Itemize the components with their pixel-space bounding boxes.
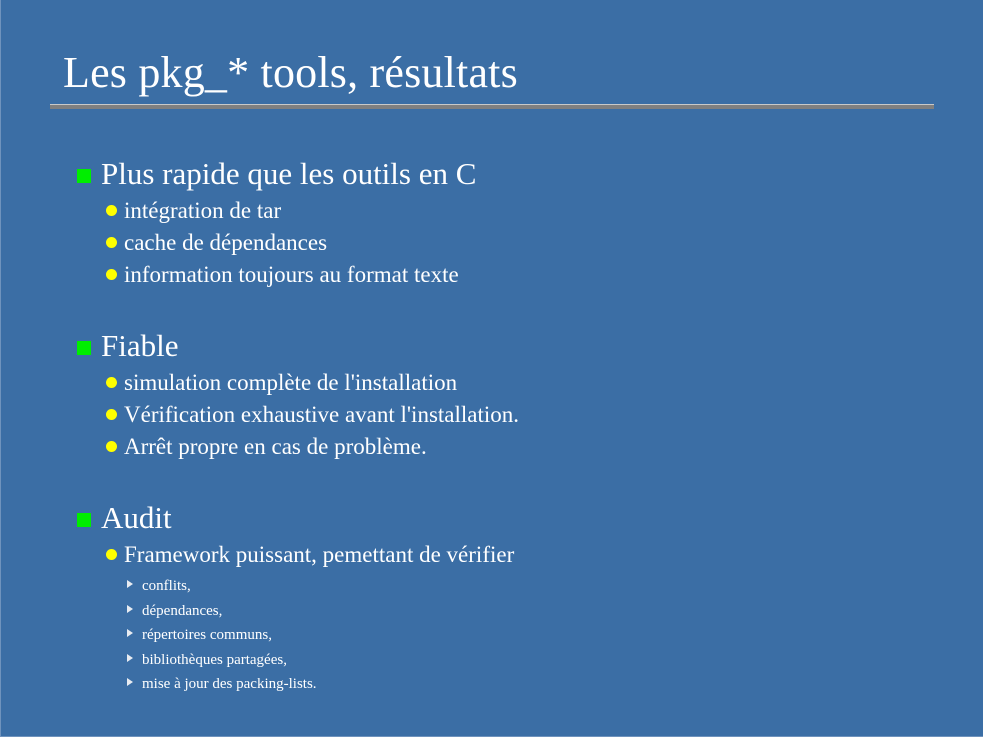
outline-level3-label: conflits, bbox=[142, 574, 191, 599]
square-bullet-icon bbox=[77, 340, 101, 356]
triangle-bullet-icon bbox=[127, 576, 142, 592]
outline-level3-label: répertoires communs, bbox=[142, 623, 272, 648]
outline-level2-item: cache de dépendances bbox=[1, 227, 983, 259]
outline-level2-list: Framework puissant, pemettant de vérifie… bbox=[1, 539, 983, 571]
dot-bullet-icon bbox=[106, 267, 124, 283]
outline-level2-item: Vérification exhaustive avant l'installa… bbox=[1, 399, 983, 431]
outline-level3-item: répertoires communs, bbox=[1, 623, 983, 648]
triangle-bullet-icon bbox=[127, 601, 142, 617]
outline-level3-label: dépendances, bbox=[142, 599, 222, 624]
outline-level3-list: conflits, dépendances, répertoires commu… bbox=[1, 574, 983, 697]
outline-group: Fiable simulation complète de l'installa… bbox=[1, 327, 983, 463]
outline-level2-label: Vérification exhaustive avant l'installa… bbox=[124, 399, 519, 431]
dot-bullet-icon bbox=[106, 235, 124, 251]
dot-bullet-icon bbox=[106, 203, 124, 219]
outline-level1-item: Fiable bbox=[1, 327, 983, 365]
title-block: Les pkg_* tools, résultats bbox=[1, 46, 983, 100]
dot-bullet-icon bbox=[106, 407, 124, 423]
square-bullet-icon bbox=[77, 168, 101, 184]
outline-level1-label: Fiable bbox=[101, 327, 179, 365]
outline-level3-item: conflits, bbox=[1, 574, 983, 599]
outline-level2-item: Framework puissant, pemettant de vérifie… bbox=[1, 539, 983, 571]
outline-level3-label: mise à jour des packing-lists. bbox=[142, 672, 317, 697]
page-title: Les pkg_* tools, résultats bbox=[1, 46, 983, 100]
dot-bullet-icon bbox=[106, 375, 124, 391]
outline-level2-item: information toujours au format texte bbox=[1, 259, 983, 291]
outline-level1-item: Audit bbox=[1, 499, 983, 537]
outline-level2-item: intégration de tar bbox=[1, 195, 983, 227]
outline-level2-list: intégration de tar cache de dépendances … bbox=[1, 195, 983, 291]
slide-canvas: Les pkg_* tools, résultats Plus rapide q… bbox=[0, 0, 983, 737]
outline-level1-item: Plus rapide que les outils en C bbox=[1, 155, 983, 193]
outline-level3-item: dépendances, bbox=[1, 599, 983, 624]
slide-content-outline: Plus rapide que les outils en C intégrat… bbox=[1, 155, 983, 697]
outline-level2-label: simulation complète de l'installation bbox=[124, 367, 457, 399]
triangle-bullet-icon bbox=[127, 650, 142, 666]
outline-level2-label: intégration de tar bbox=[124, 195, 281, 227]
title-divider bbox=[50, 104, 934, 109]
dot-bullet-icon bbox=[106, 439, 124, 455]
outline-level2-item: Arrêt propre en cas de problème. bbox=[1, 431, 983, 463]
outline-level1-label: Audit bbox=[101, 499, 172, 537]
triangle-bullet-icon bbox=[127, 674, 142, 690]
outline-group: Plus rapide que les outils en C intégrat… bbox=[1, 155, 983, 291]
outline-level2-list: simulation complète de l'installation Vé… bbox=[1, 367, 983, 463]
outline-level1-label: Plus rapide que les outils en C bbox=[101, 155, 476, 193]
outline-level2-label: cache de dépendances bbox=[124, 227, 327, 259]
square-bullet-icon bbox=[77, 512, 101, 528]
outline-group: Audit Framework puissant, pemettant de v… bbox=[1, 499, 983, 697]
outline-level2-item: simulation complète de l'installation bbox=[1, 367, 983, 399]
triangle-bullet-icon bbox=[127, 625, 142, 641]
outline-level2-label: information toujours au format texte bbox=[124, 259, 459, 291]
outline-level3-label: bibliothèques partagées, bbox=[142, 648, 287, 673]
outline-level2-label: Framework puissant, pemettant de vérifie… bbox=[124, 539, 514, 571]
outline-level2-label: Arrêt propre en cas de problème. bbox=[124, 431, 427, 463]
outline-level3-item: bibliothèques partagées, bbox=[1, 648, 983, 673]
dot-bullet-icon bbox=[106, 547, 124, 563]
outline-level3-item: mise à jour des packing-lists. bbox=[1, 672, 983, 697]
